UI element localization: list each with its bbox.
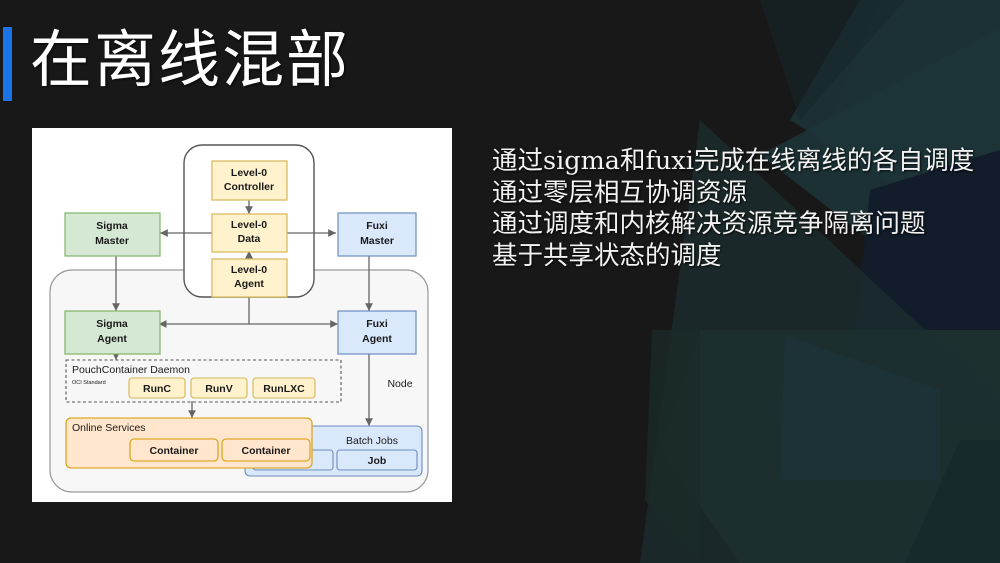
title-accent-bar <box>3 27 12 101</box>
architecture-diagram-svg: Level-0 Controller Level-0 Data Level-0 … <box>32 128 452 502</box>
node-label: Node <box>387 378 412 390</box>
online-services-group: Online Services Container Container <box>66 418 312 468</box>
sigma-master-label-line2: Master <box>95 235 129 247</box>
container-label-2: Container <box>241 445 290 457</box>
level0-data-label-line1: Level-0 <box>231 219 267 231</box>
level0-agent-label-line1: Level-0 <box>231 264 267 276</box>
page-title: 在离线混部 <box>30 16 350 104</box>
level0-agent-label-line2: Agent <box>234 278 264 290</box>
oci-standard-subtitle: OCI Standard <box>72 380 106 386</box>
container-label-1: Container <box>149 445 198 457</box>
runtime-box-runlxc: RunLXC <box>253 378 315 398</box>
container-box-2: Container <box>222 439 310 461</box>
level0-controller-label-line1: Level-0 <box>231 167 267 179</box>
runtime-label-runv: RunV <box>205 383 232 395</box>
body-text-line-4: 基于共享状态的调度 <box>492 241 992 273</box>
fuxi-agent-label-line1: Fuxi <box>366 318 388 330</box>
runtime-label-runc: RunC <box>143 383 171 395</box>
batch-jobs-title: Batch Jobs <box>346 435 398 447</box>
sigma-agent-label-line1: Sigma <box>96 318 128 330</box>
job-box-2: Job <box>337 450 417 470</box>
sigma-agent-box: Sigma Agent <box>65 311 160 354</box>
runtime-label-runlxc: RunLXC <box>263 383 305 395</box>
container-box-1: Container <box>130 439 218 461</box>
fuxi-master-label-line1: Fuxi <box>366 220 388 232</box>
fuxi-master-box: Fuxi Master <box>338 213 416 256</box>
job-label-2: Job <box>368 455 387 467</box>
body-text-block: 通过sigma和fuxi完成在线离线的各自调度 通过零层相互协调资源 通过调度和… <box>492 146 992 272</box>
body-text-line-2: 通过零层相互协调资源 <box>492 178 992 210</box>
level0-controller-label-line2: Controller <box>224 181 274 193</box>
fuxi-agent-label-line2: Agent <box>362 333 392 345</box>
pouchcontainer-daemon-title: PouchContainer Daemon <box>72 364 190 376</box>
runtime-box-runv: RunV <box>191 378 247 398</box>
sigma-master-box: Sigma Master <box>65 213 160 256</box>
architecture-diagram-panel: Level-0 Controller Level-0 Data Level-0 … <box>32 128 452 502</box>
level0-data-label-line2: Data <box>238 233 261 245</box>
level0-agent-box: Level-0 Agent <box>212 259 287 297</box>
runtime-box-runc: RunC <box>129 378 185 398</box>
fuxi-agent-box: Fuxi Agent <box>338 311 416 354</box>
level0-data-box: Level-0 Data <box>212 214 287 252</box>
sigma-master-label-line1: Sigma <box>96 220 128 232</box>
body-text-line-3: 通过调度和内核解决资源竞争隔离问题 <box>492 209 992 241</box>
sigma-agent-label-line2: Agent <box>97 333 127 345</box>
online-services-title: Online Services <box>72 422 146 434</box>
fuxi-master-label-line2: Master <box>360 235 394 247</box>
body-text-line-1: 通过sigma和fuxi完成在线离线的各自调度 <box>492 146 992 178</box>
level0-controller-box: Level-0 Controller <box>212 161 287 200</box>
